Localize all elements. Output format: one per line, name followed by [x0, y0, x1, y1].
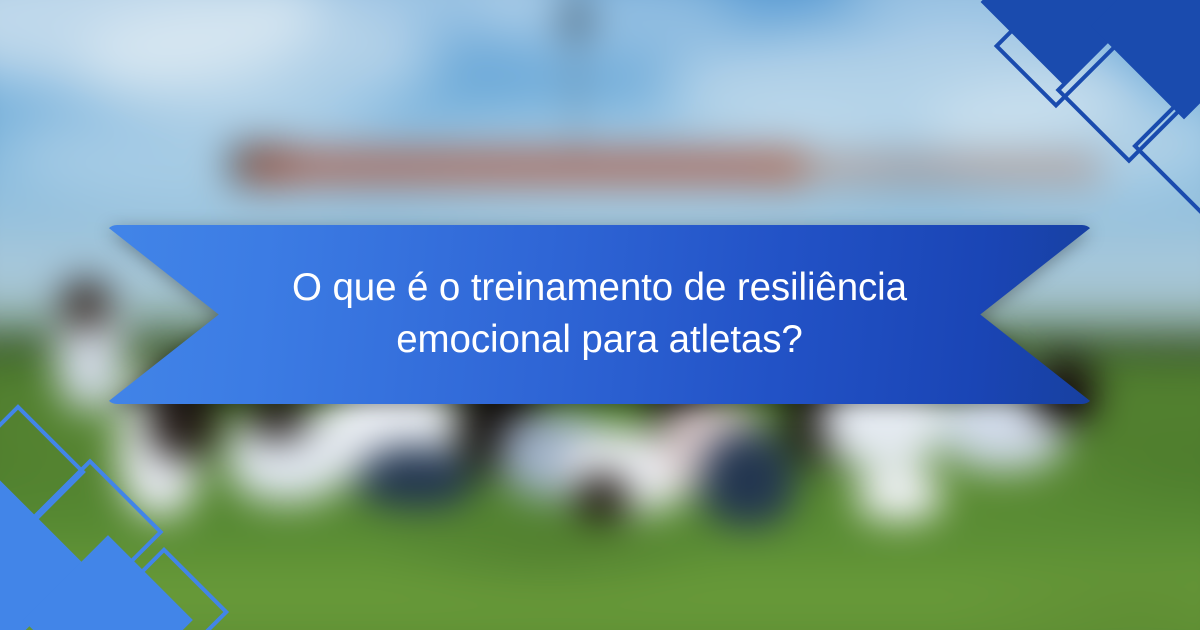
person-figure [856, 468, 942, 520]
page-title: O que é o treinamento de resiliência emo… [250, 262, 950, 366]
headline-ribbon-banner: O que é o treinamento de resiliência emo… [105, 225, 1094, 404]
red-roof-structure-far [760, 156, 1100, 182]
person-figure [700, 430, 796, 526]
person-hair [574, 472, 630, 522]
red-roof-structure [245, 150, 805, 184]
person-figure [356, 446, 476, 508]
ribbon-shape: O que é o treinamento de resiliência emo… [105, 225, 1094, 404]
antenna-pole [573, 0, 580, 171]
social-share-card: O que é o treinamento de resiliência emo… [0, 0, 1200, 630]
